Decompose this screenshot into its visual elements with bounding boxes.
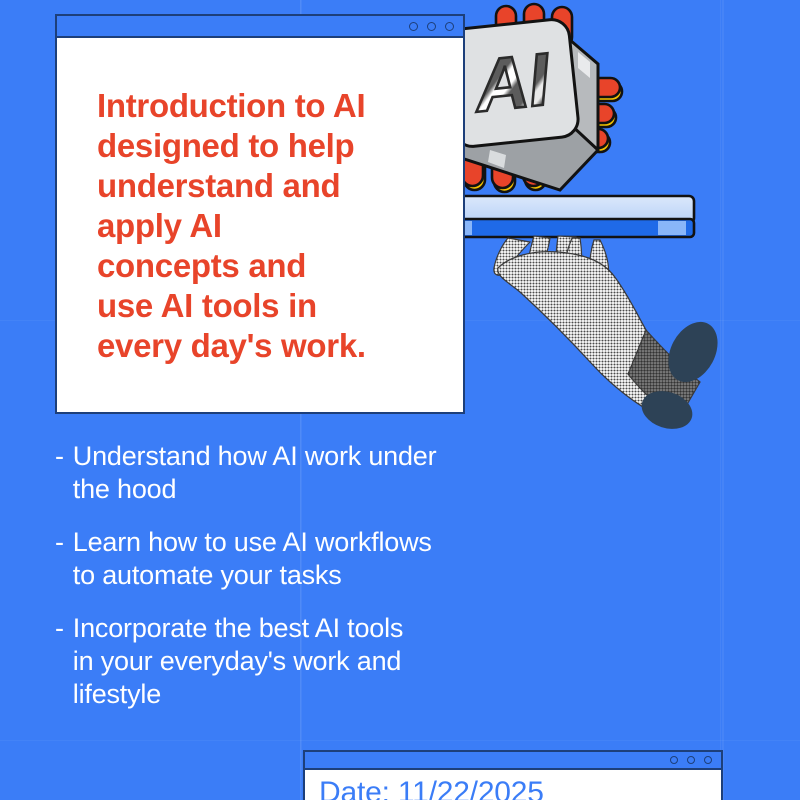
window-dot-1-icon[interactable] (670, 756, 678, 764)
window-dot-3-icon[interactable] (704, 756, 712, 764)
window-dot-2-icon[interactable] (687, 756, 695, 764)
heading-window: Introduction to AI designed to help unde… (55, 14, 465, 414)
chip-ai-label: AI (469, 37, 555, 128)
list-item: - Incorporate the best AI tools in your … (55, 612, 615, 711)
window-dot-3-icon[interactable] (445, 22, 454, 31)
window-titlebar-top[interactable] (57, 16, 463, 38)
heading-window-body: Introduction to AI designed to help unde… (57, 38, 463, 412)
date-label: Date: 11/22/2025 (319, 776, 721, 800)
bullet-marker: - (55, 612, 64, 711)
halftone-hand-illustration (494, 236, 728, 435)
bullet-text: Learn how to use AI workflows to automat… (73, 526, 432, 592)
bullet-text: Understand how AI work under the hood (73, 440, 437, 506)
date-window-body: Date: 11/22/2025 (305, 770, 721, 800)
window-dot-2-icon[interactable] (427, 22, 436, 31)
window-titlebar-bottom[interactable] (305, 752, 721, 770)
window-dot-1-icon[interactable] (409, 22, 418, 31)
ai-artwork: AI (430, 0, 800, 450)
platform-bar (450, 196, 694, 237)
bullet-text: Incorporate the best AI tools in your ev… (73, 612, 403, 711)
list-item: - Learn how to use AI workflows to autom… (55, 526, 615, 592)
page-title: Introduction to AI designed to help unde… (97, 86, 463, 366)
bullet-marker: - (55, 440, 64, 506)
date-window: Date: 11/22/2025 (303, 750, 723, 800)
bullet-marker: - (55, 526, 64, 592)
list-item: - Understand how AI work under the hood (55, 440, 615, 506)
feature-list: - Understand how AI work under the hood … (55, 440, 615, 731)
